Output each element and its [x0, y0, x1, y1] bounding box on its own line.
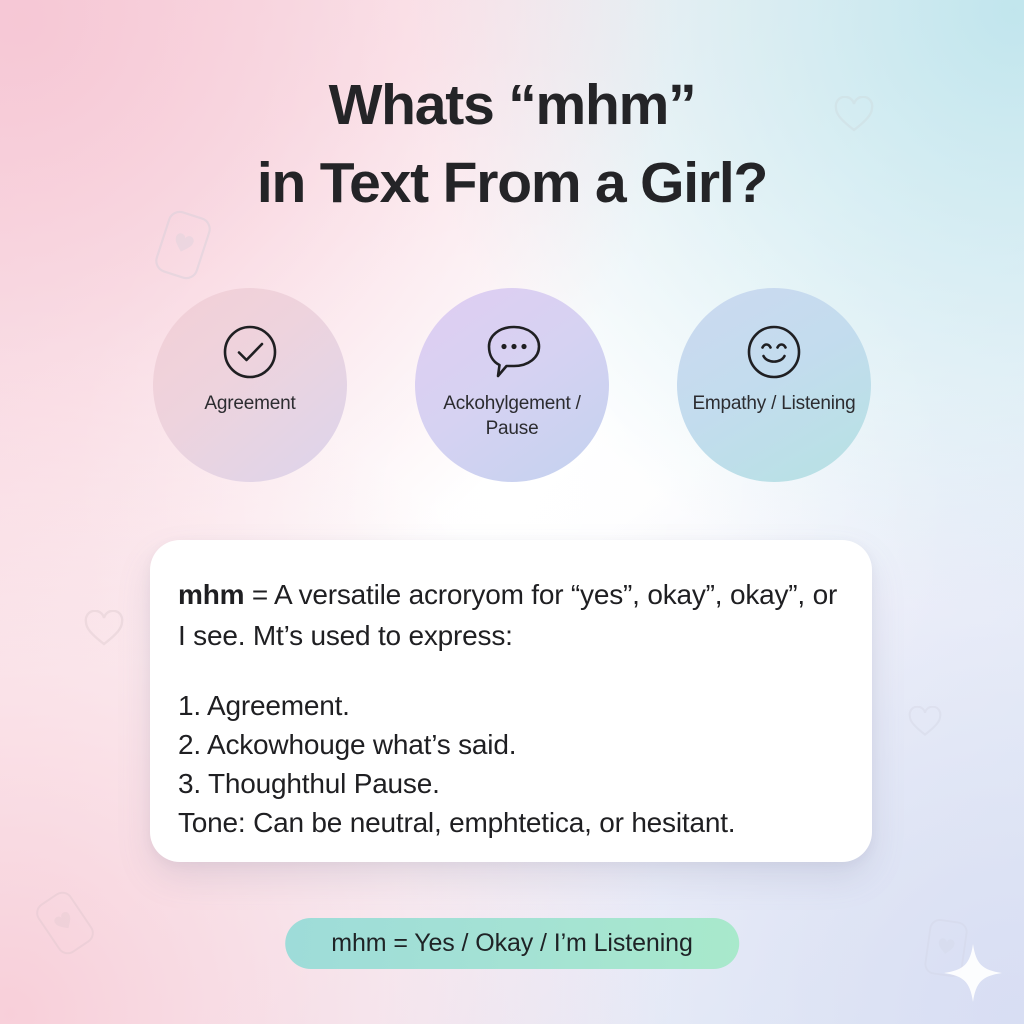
definition-text: = A versatile acroryom for “yes”, okay”,…: [178, 579, 837, 651]
definition-lead: mhm = A versatile acroryom for “yes”, ok…: [178, 574, 838, 656]
list-item: 1. Agreement.: [178, 686, 838, 725]
meaning-circle-label: Empathy / Listening: [684, 391, 863, 416]
page-title: Whats “mhm” in Text From a Girl?: [0, 66, 1024, 222]
phone-heart-watermark: [922, 916, 970, 981]
summary-pill-text: mhm = Yes / Okay / I’m Listening: [331, 929, 693, 958]
meaning-circle-acknowledgement[interactable]: Ackohylgement / Pause: [415, 288, 609, 482]
smiley-face-icon: [743, 321, 805, 383]
meaning-circle-empathy[interactable]: Empathy / Listening: [677, 288, 871, 482]
list-item: 2. Ackowhouge what’s said.: [178, 725, 838, 764]
definition-term: mhm: [178, 579, 244, 610]
title-line-2: in Text From a Girl?: [0, 144, 1024, 222]
list-item: 3. Thoughthul Pause.: [178, 764, 838, 803]
phone-heart-watermark: [30, 886, 99, 961]
check-circle-icon: [219, 321, 281, 383]
definition-list: 1. Agreement. 2. Ackowhouge what’s said.…: [178, 686, 838, 842]
heart-outline-watermark: [908, 706, 942, 738]
summary-pill: mhm = Yes / Okay / I’m Listening: [285, 918, 739, 969]
definition-card: mhm = A versatile acroryom for “yes”, ok…: [150, 540, 872, 862]
speech-bubble-dots-icon: [478, 321, 546, 383]
list-item: Tone: Can be neutral, emphtetica, or hes…: [178, 803, 838, 842]
meaning-circle-agreement[interactable]: Agreement: [153, 288, 347, 482]
meaning-circle-label: Agreement: [196, 391, 303, 416]
meaning-circles-row: Agreement Ackohylgement / Pause: [0, 288, 1024, 482]
meaning-circle-label: Ackohylgement / Pause: [415, 391, 609, 441]
infographic-canvas: Whats “mhm” in Text From a Girl? Agreeme…: [0, 0, 1024, 1024]
heart-outline-watermark: [84, 610, 124, 648]
title-line-1: Whats “mhm”: [0, 66, 1024, 144]
